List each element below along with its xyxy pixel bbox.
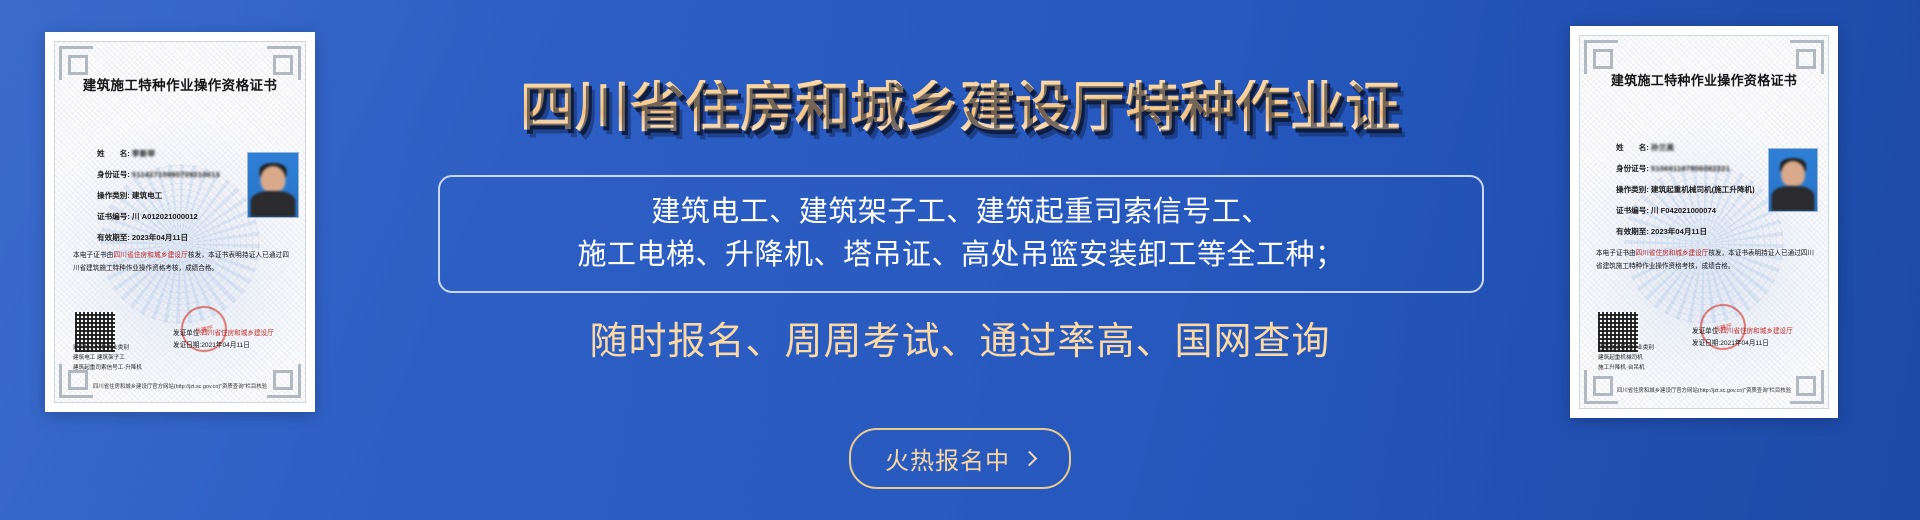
course-scope-line-2: 施工电梯、升降机、塔吊证、高处吊篮安装卸工等全工种； bbox=[577, 239, 1344, 272]
field-value: 川 F042021000074 bbox=[1651, 207, 1716, 215]
certificate-fields-left: 姓 名: 李新举 身份证号: 51142715980709210613 操作类别… bbox=[97, 150, 247, 255]
enroll-now-button[interactable]: 火热报名中 bbox=[849, 428, 1071, 489]
photo-head-shape bbox=[261, 166, 286, 193]
photo-head-shape bbox=[1781, 161, 1805, 187]
photo-body-shape bbox=[251, 191, 296, 217]
field-label: 证书编号: bbox=[1616, 207, 1649, 215]
paragraph-prefix: 本电子证书由 bbox=[73, 252, 114, 259]
legend-line: 建筑电工 建筑架子工 bbox=[73, 354, 142, 364]
issuer-value: 四川省住房和城乡建设厅 bbox=[1720, 328, 1793, 335]
field-label: 证书编号: bbox=[97, 213, 130, 221]
certificate-title-left: 建筑施工特种作业操作资格证书 bbox=[45, 74, 315, 94]
issuer-row: 发证单位:四川省住房和城乡建设厅 bbox=[173, 328, 274, 340]
chevron-right-icon bbox=[1022, 451, 1038, 467]
page-title: 四川省住房和城乡建设厅特种作业证 bbox=[370, 80, 1550, 135]
certificate-field-row: 证书编号: 川 A012021000012 bbox=[97, 213, 247, 221]
field-value: 51142715980709210613 bbox=[132, 171, 220, 179]
field-label: 操作类别: bbox=[1616, 186, 1649, 194]
id-photo-icon bbox=[247, 152, 299, 218]
field-label: 身份证号: bbox=[1616, 165, 1649, 173]
banner-content: 四川省住房和城乡建设厅特种作业证 建筑电工、建筑架子工、建筑起重司索信号工、 施… bbox=[370, 0, 1550, 520]
certificate-footer-left: 四川省住房和城乡建设厅官方网站(http://jzt.sc.gov.cn)"资质… bbox=[45, 382, 315, 390]
field-label: 有效期至: bbox=[1616, 228, 1649, 236]
field-label: 操作类别: bbox=[97, 192, 130, 200]
paragraph-highlight: 四川省住房和城乡建设厅 bbox=[114, 252, 188, 259]
course-scope-box: 建筑电工、建筑架子工、建筑起重司索信号工、 施工电梯、升降机、塔吊证、高处吊篮安… bbox=[438, 175, 1484, 293]
certificate-fields-right: 姓 名: 孙兰美 身份证号: 510681197806082221 操作类别: … bbox=[1616, 144, 1768, 249]
issuer-value: 四川省住房和城乡建设厅 bbox=[201, 330, 274, 337]
issue-date-value: 2021年04月11日 bbox=[201, 342, 250, 349]
enroll-now-label: 火热报名中 bbox=[885, 441, 1010, 476]
field-value: 2023年04月11日 bbox=[132, 234, 188, 242]
field-value: 川 A012021000012 bbox=[132, 213, 198, 221]
field-label: 姓 名: bbox=[1616, 144, 1649, 152]
field-value: 孙兰美 bbox=[1651, 144, 1674, 152]
fret-ornament-icon bbox=[267, 364, 301, 398]
certificate-issuer-left: 发证单位:四川省住房和城乡建设厅 发证日期:2021年04月11日 bbox=[173, 328, 274, 352]
certificate-field-row: 操作类别: 建筑电工 bbox=[97, 192, 247, 200]
id-photo-icon bbox=[1768, 148, 1818, 212]
issuer-label: 发证单位: bbox=[1692, 328, 1720, 335]
certificate-field-row: 身份证号: 51142715980709210613 bbox=[97, 171, 247, 179]
certificate-field-row: 有效期至: 2023年04月11日 bbox=[97, 234, 247, 242]
legend-line: 建筑起重机械司机 bbox=[1598, 354, 1654, 364]
selling-points-text: 随时报名、周周考试、通过率高、国网查询 bbox=[370, 320, 1550, 366]
fret-ornament-icon bbox=[1790, 40, 1824, 74]
issuer-row: 发证单位:四川省住房和城乡建设厅 bbox=[1692, 326, 1793, 338]
issue-date-label: 发证日期: bbox=[173, 342, 201, 349]
field-label: 有效期至: bbox=[97, 234, 130, 242]
certificate-paragraph-left: 本电子证书由四川省住房和城乡建设厅核发，本证书表明持证人已通过四川省建筑施工特种… bbox=[73, 250, 289, 275]
certificate-card-left: 建筑施工特种作业操作资格证书 姓 名: 李新举 身份证号: 5114271598… bbox=[45, 32, 315, 412]
photo-body-shape bbox=[1771, 186, 1814, 211]
issue-date-label: 发证日期: bbox=[1692, 340, 1720, 347]
certificate-card-right: 建筑施工特种作业操作资格证书 姓 名: 孙兰美 身份证号: 5106811978… bbox=[1570, 26, 1838, 418]
promo-banner: 建筑施工特种作业操作资格证书 姓 名: 李新举 身份证号: 5114271598… bbox=[0, 0, 1920, 520]
field-label: 姓 名: bbox=[97, 150, 130, 158]
certificate-legend-left: 建筑施工特种作业类别 建筑电工 建筑架子工 建筑起重司索信号工·升降机 bbox=[73, 344, 142, 373]
certificate-paragraph-right: 本电子证书由四川省住房和城乡建设厅核发，本证书表明持证人已通过四川省建筑施工特种… bbox=[1596, 248, 1814, 273]
legend-line: 建筑起重司索信号工·升降机 bbox=[73, 364, 142, 374]
certificate-footer-right: 四川省住房和城乡建设厅官方网站(http://jzt.sc.gov.cn)"资质… bbox=[1570, 386, 1838, 394]
certificate-title-right: 建筑施工特种作业操作资格证书 bbox=[1570, 70, 1838, 89]
legend-line: 建筑施工特种作业类别 bbox=[73, 344, 142, 354]
certificate-field-row: 有效期至: 2023年04月11日 bbox=[1616, 228, 1768, 236]
issue-date-row: 发证日期:2021年04月11日 bbox=[173, 340, 274, 352]
issue-date-row: 发证日期:2021年04月11日 bbox=[1692, 338, 1793, 350]
certificate-field-row: 身份证号: 510681197806082221 bbox=[1616, 165, 1768, 173]
fret-ornament-icon bbox=[1584, 40, 1618, 74]
paragraph-prefix: 本电子证书由 bbox=[1596, 250, 1636, 257]
course-scope-line-1: 建筑电工、建筑架子工、建筑起重司索信号工、 bbox=[651, 196, 1271, 229]
field-value: 建筑电工 bbox=[132, 192, 162, 200]
legend-line: 建筑施工特种作业类别 bbox=[1598, 344, 1654, 354]
certificate-field-row: 姓 名: 孙兰美 bbox=[1616, 144, 1768, 152]
issuer-label: 发证单位: bbox=[173, 330, 201, 337]
paragraph-highlight: 四川省住房和城乡建设厅 bbox=[1636, 250, 1709, 257]
certificate-field-row: 证书编号: 川 F042021000074 bbox=[1616, 207, 1768, 215]
issue-date-value: 2021年04月11日 bbox=[1720, 340, 1769, 347]
legend-line: 施工升降机·台吊机 bbox=[1598, 364, 1654, 374]
certificate-field-row: 姓 名: 李新举 bbox=[97, 150, 247, 158]
field-value: 510681197806082221 bbox=[1651, 165, 1730, 173]
certificate-issuer-right: 发证单位:四川省住房和城乡建设厅 发证日期:2021年04月11日 bbox=[1692, 326, 1793, 350]
certificate-legend-right: 建筑施工特种作业类别 建筑起重机械司机 施工升降机·台吊机 bbox=[1598, 344, 1654, 373]
field-value: 2023年04月11日 bbox=[1651, 228, 1707, 236]
field-value: 建筑起重机械司机(施工升降机) bbox=[1651, 186, 1755, 194]
certificate-field-row: 操作类别: 建筑起重机械司机(施工升降机) bbox=[1616, 186, 1768, 194]
field-value: 李新举 bbox=[132, 150, 155, 158]
field-label: 身份证号: bbox=[97, 171, 130, 179]
